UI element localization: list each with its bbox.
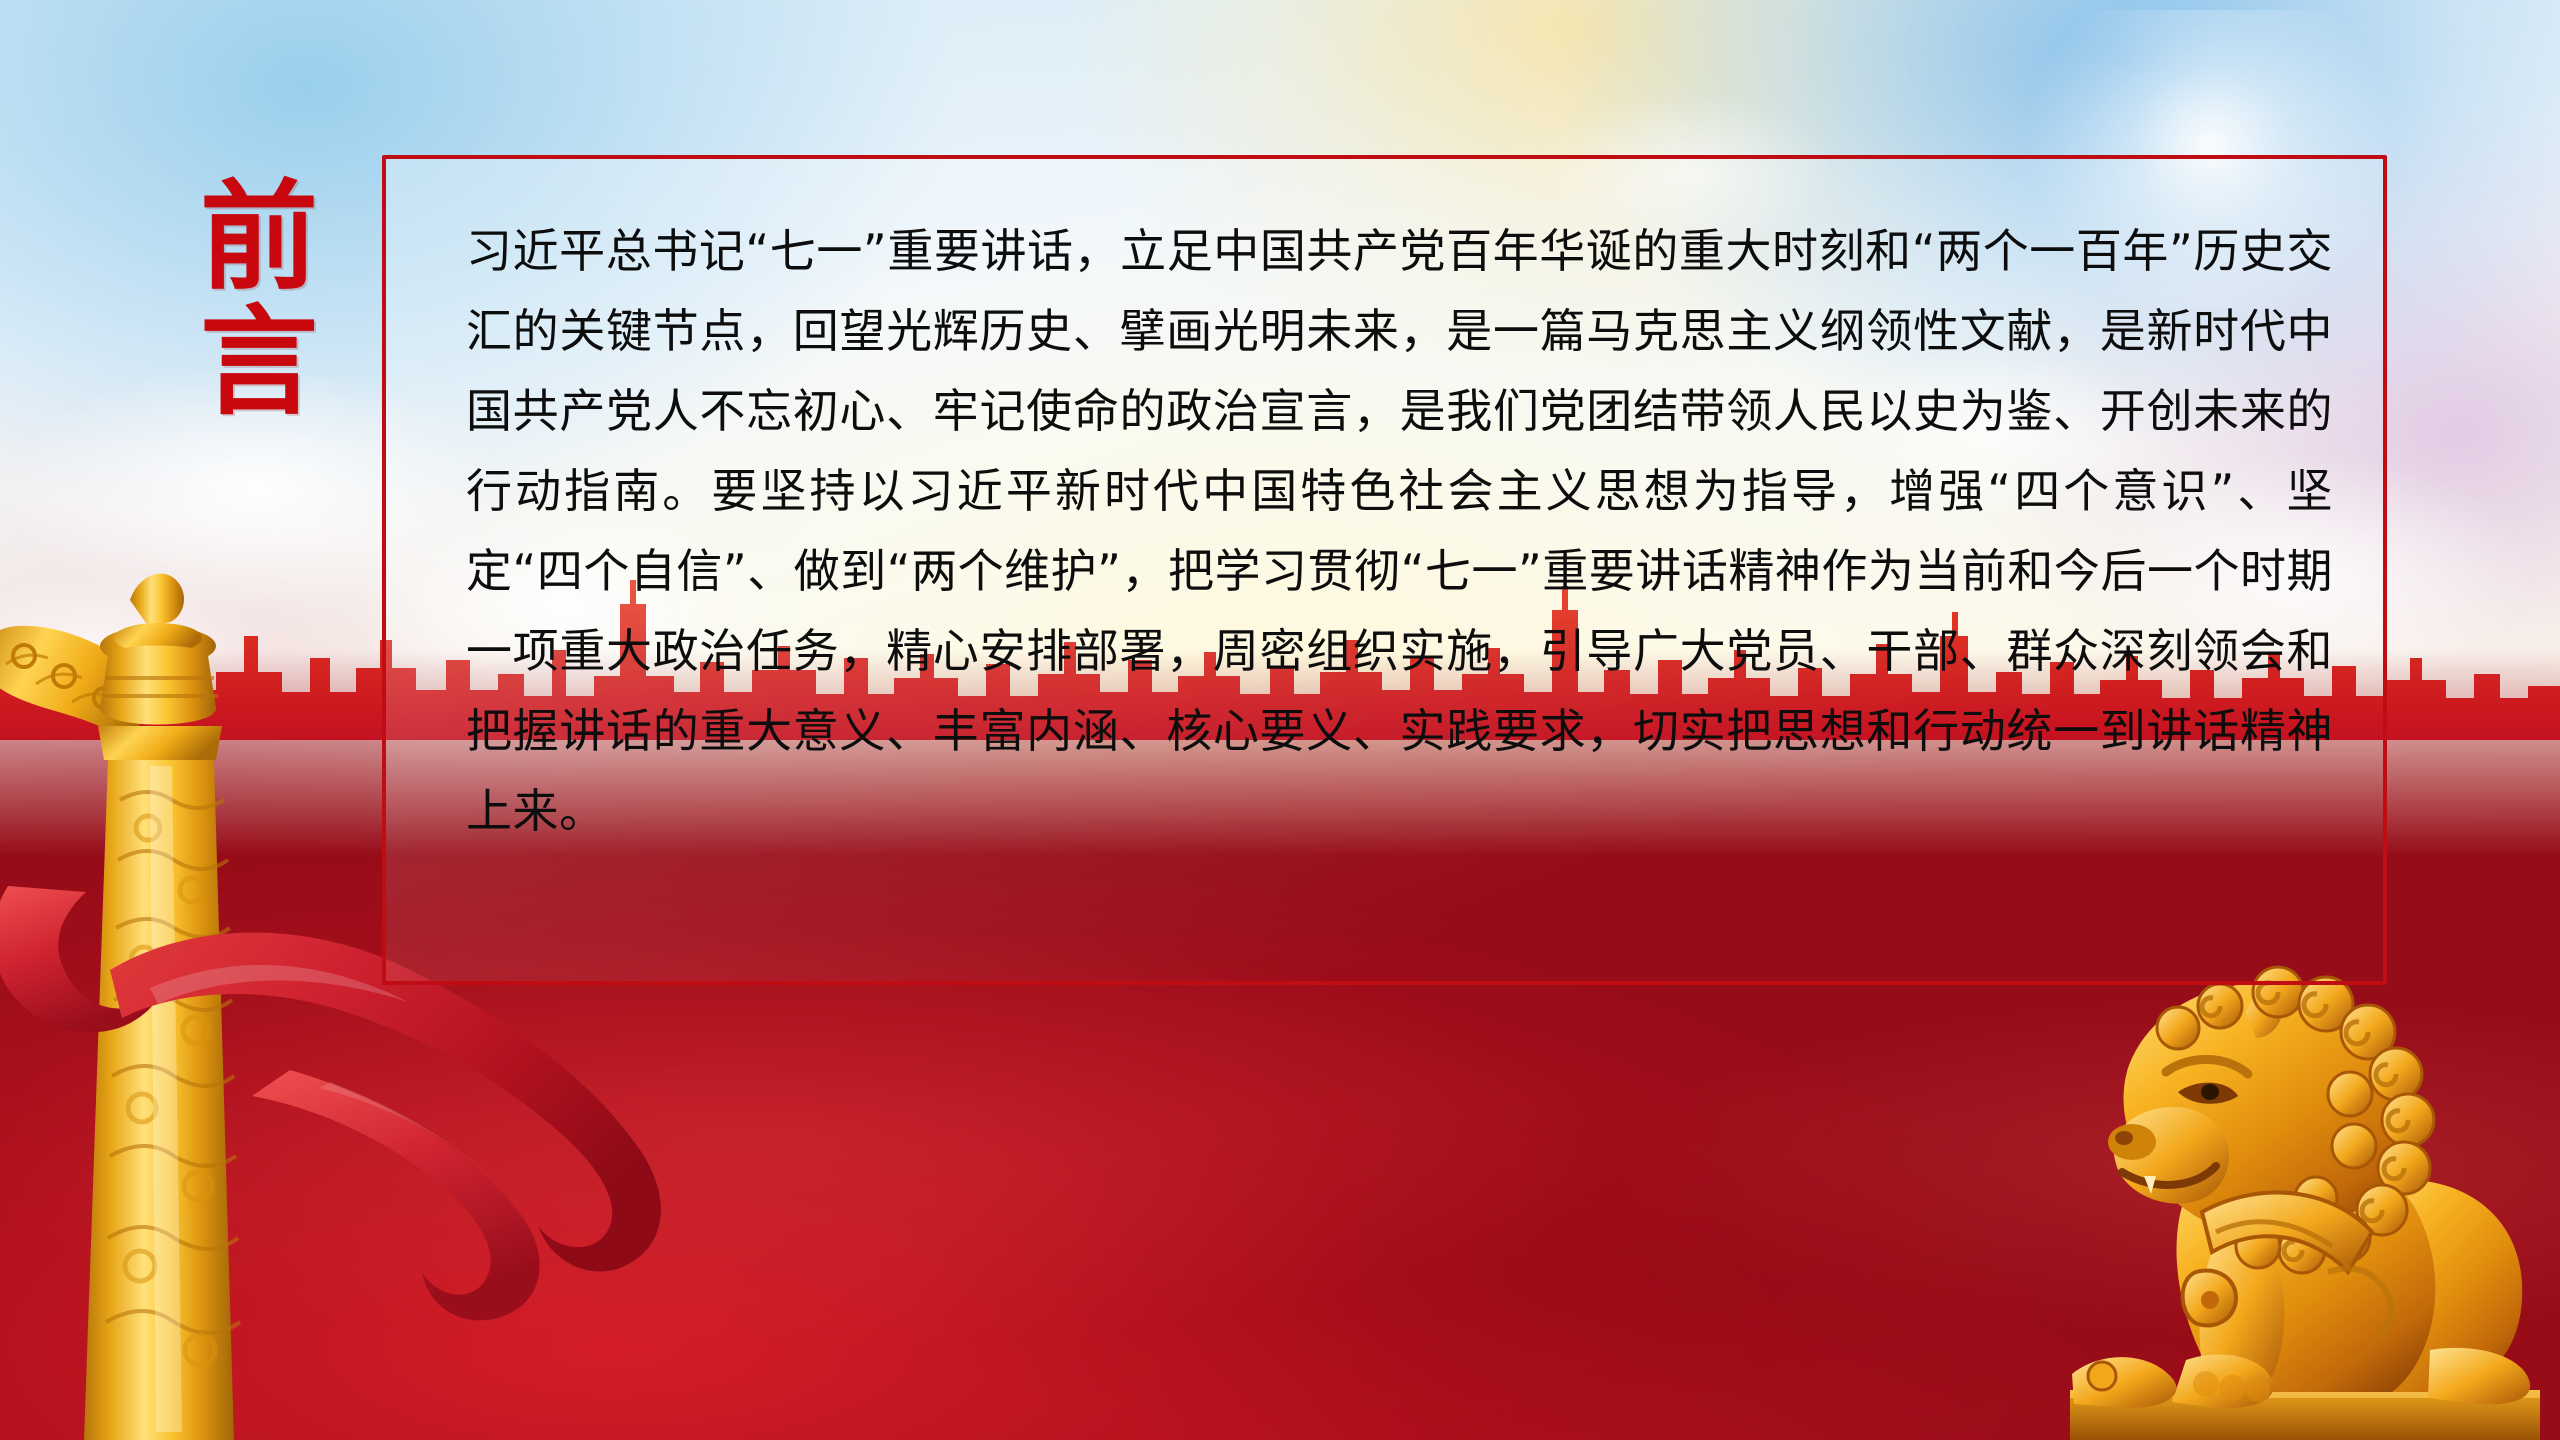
preface-card: 习近平总书记“七一”重要讲话，立足中国共产党百年华诞的重大时刻和“两个一百年”历…	[382, 155, 2387, 985]
preface-body-text: 习近平总书记“七一”重要讲话，立足中国共产党百年华诞的重大时刻和“两个一百年”历…	[466, 211, 2333, 851]
slide-canvas: 前言 习近平总书记“七一”重要讲话，立足中国共产党百年华诞的重大时刻和“两个一百…	[0, 0, 2560, 1440]
preface-paragraph: 习近平总书记“七一”重要讲话，立足中国共产党百年华诞的重大时刻和“两个一百年”历…	[466, 211, 2333, 851]
page-title: 前言	[185, 175, 335, 425]
